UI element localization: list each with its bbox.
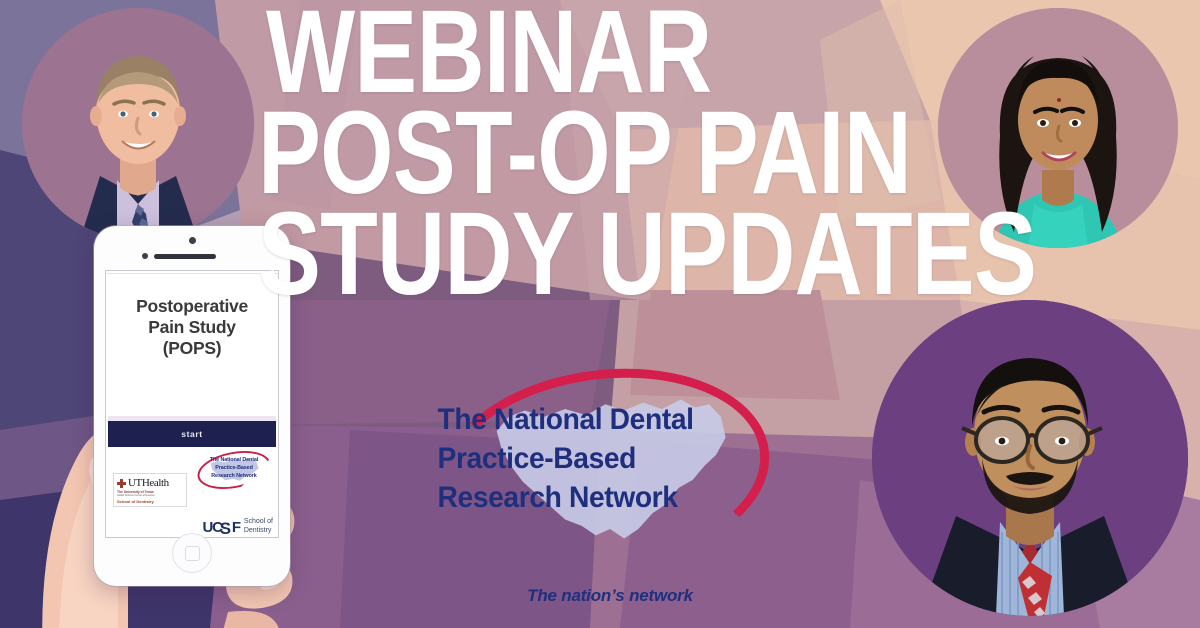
speaker-two-illustration bbox=[938, 8, 1178, 248]
phone-body: Postoperative Pain Study (POPS) start UT… bbox=[94, 226, 290, 586]
ndpbrn-mini-line-1: The National Dental bbox=[210, 457, 258, 463]
phone-camera-icon bbox=[189, 237, 196, 244]
uthealth-name: UTHealth bbox=[128, 477, 169, 489]
speaker-portrait-one bbox=[22, 8, 254, 240]
speaker-portrait-three bbox=[872, 300, 1188, 616]
phone-home-button[interactable] bbox=[172, 533, 212, 573]
app-title: Postoperative Pain Study (POPS) bbox=[106, 274, 278, 359]
ucsf-f: F bbox=[232, 519, 240, 536]
ndpbrn-logo: The National Dental Practice-Based Resea… bbox=[430, 368, 790, 618]
app-title-line-1: Postoperative bbox=[114, 296, 270, 317]
ucsf-logo: UCSF School of Dentistry bbox=[202, 517, 273, 537]
ucsf-uc: UC bbox=[202, 519, 221, 536]
ndpbrn-mini-logo: The National Dental Practice-Based Resea… bbox=[195, 451, 273, 491]
ndpbrn-mini-line-2: Practice-Based bbox=[215, 465, 253, 471]
uthealth-sub-2: Health Science Center at Houston bbox=[117, 494, 183, 497]
phone-logo-row: UTHealth The University of Texas Health … bbox=[109, 451, 275, 537]
ucsf-sub-2: Dentistry bbox=[244, 527, 272, 534]
uthealth-sub-3: School of Dentistry bbox=[117, 499, 183, 504]
app-spacer bbox=[106, 359, 278, 416]
phone-speaker-icon bbox=[154, 254, 216, 259]
ndpbrn-tagline: The nation’s network bbox=[430, 586, 790, 606]
uthealth-cross-icon bbox=[117, 479, 126, 488]
app-title-line-2: Pain Study bbox=[114, 317, 270, 338]
speaker-three-illustration bbox=[872, 300, 1188, 616]
ndpbrn-wordmark: The National Dental Practice-Based Resea… bbox=[430, 400, 790, 517]
speaker-one-illustration bbox=[22, 8, 254, 240]
phone-mockup: Postoperative Pain Study (POPS) start UT… bbox=[60, 222, 320, 628]
speaker-portrait-two bbox=[938, 8, 1178, 248]
webinar-promo-graphic: WEBINAR POST-OP PAIN STUDY UPDATES bbox=[0, 0, 1200, 628]
start-button[interactable]: start bbox=[108, 421, 276, 447]
ucsf-sub-1: School of bbox=[244, 518, 273, 525]
ndpbrn-line-1: The National Dental bbox=[430, 400, 768, 439]
ndpbrn-line-3: Research Network bbox=[430, 478, 768, 517]
ucsf-subtitle: School of Dentistry bbox=[244, 518, 273, 536]
ndpbrn-mini-text: The National Dental Practice-Based Resea… bbox=[195, 457, 273, 480]
ucsf-s: S bbox=[220, 519, 230, 538]
phone-sensor-icon bbox=[142, 253, 148, 259]
ndpbrn-mini-line-3: Research Network bbox=[211, 473, 256, 479]
app-title-line-3: (POPS) bbox=[114, 338, 270, 359]
uthealth-logo: UTHealth The University of Texas Health … bbox=[113, 473, 187, 507]
phone-screen: Postoperative Pain Study (POPS) start UT… bbox=[105, 270, 279, 538]
ndpbrn-line-2: Practice-Based bbox=[430, 439, 768, 478]
ucsf-wordmark: UCSF bbox=[202, 517, 239, 537]
